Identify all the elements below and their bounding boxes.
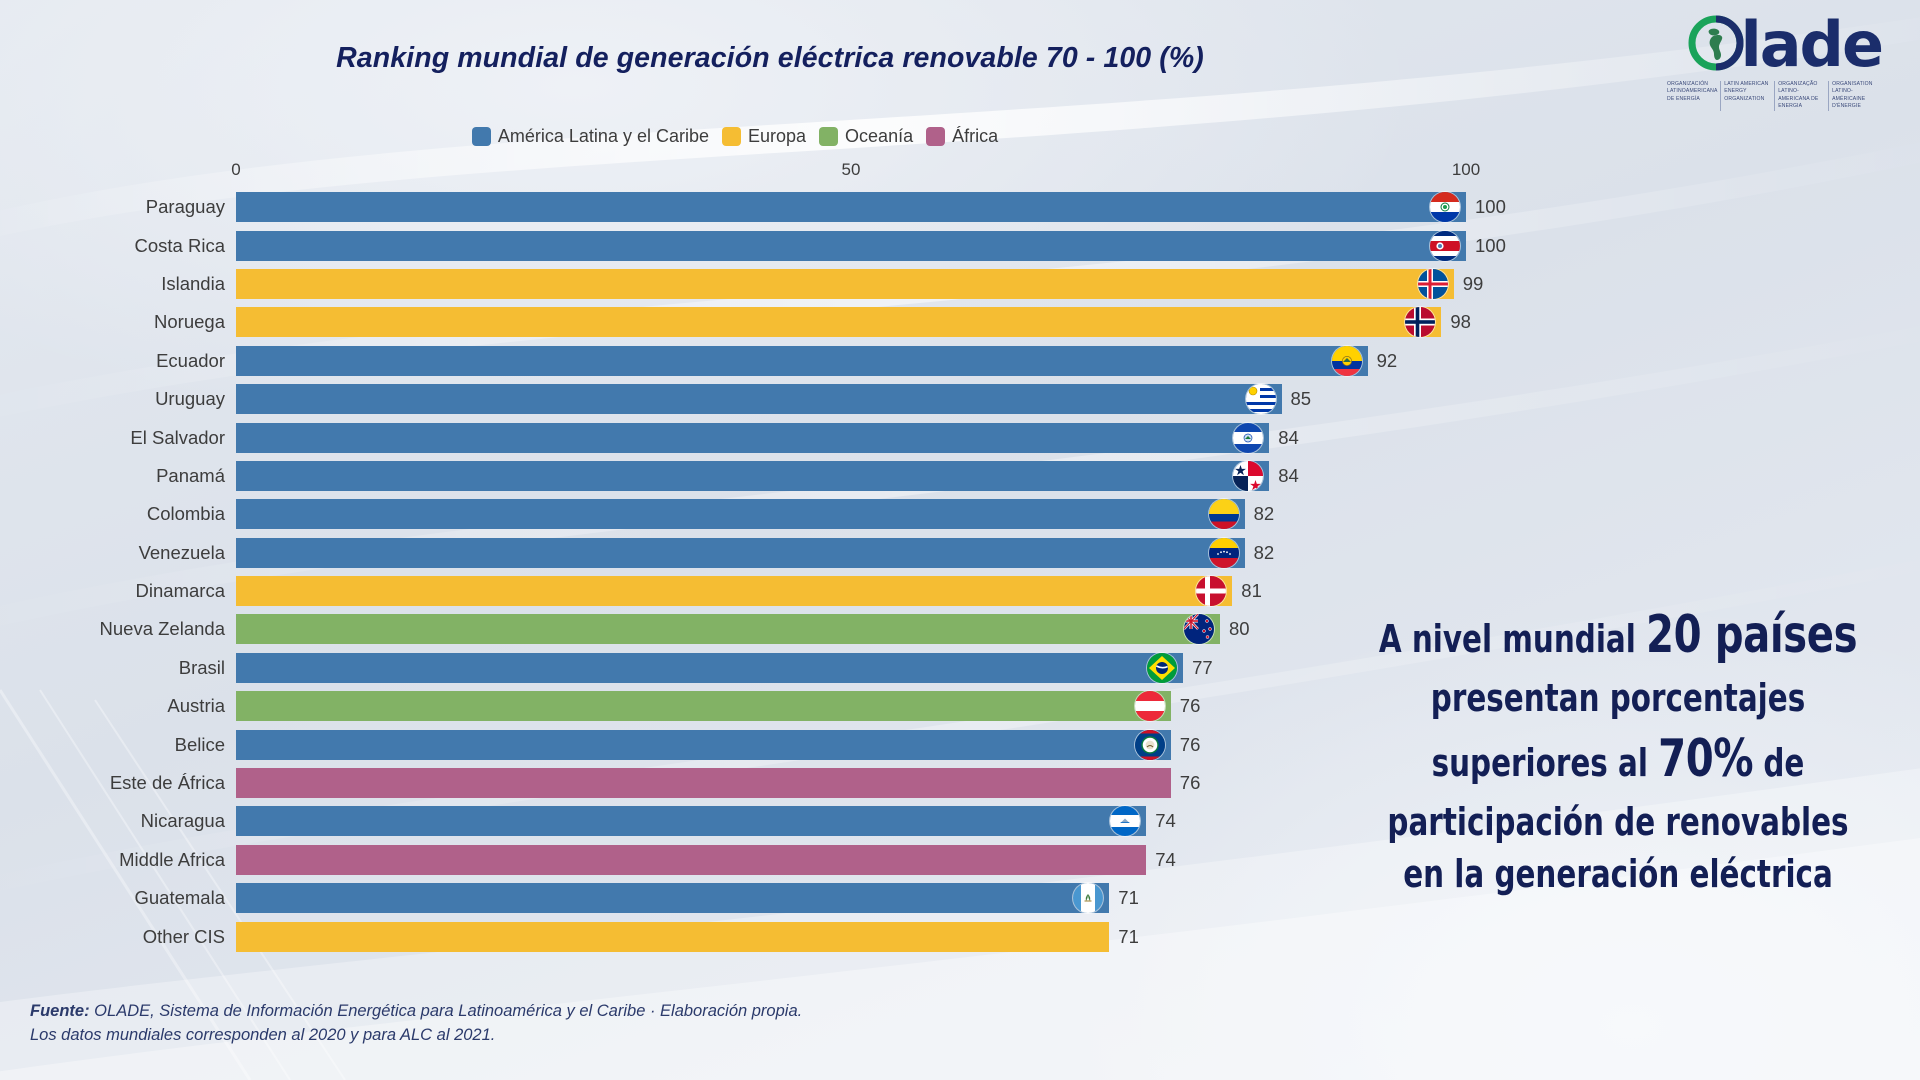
logo-wordmark: lade: [1740, 14, 1882, 76]
country-label: Austria: [0, 695, 236, 717]
bar-value: 77: [1192, 657, 1213, 679]
table-row[interactable]: Este de África76: [0, 764, 1540, 802]
bar-value: 84: [1278, 465, 1299, 487]
table-row[interactable]: Noruega98: [0, 303, 1540, 341]
bar-value: 100: [1475, 235, 1506, 257]
x-tick-50: 50: [842, 160, 861, 180]
table-row[interactable]: Panamá84: [0, 457, 1540, 495]
flag-colombia-icon: [1209, 499, 1239, 529]
legend-swatch-icon: [926, 127, 945, 146]
bar-América Latina y el Caribe[interactable]: [236, 423, 1269, 453]
flag-venezuela-icon: [1209, 538, 1239, 568]
bar-value: 82: [1254, 503, 1275, 525]
country-label: El Salvador: [0, 427, 236, 449]
bar-Europa[interactable]: [236, 269, 1454, 299]
table-row[interactable]: Other CIS71: [0, 917, 1540, 955]
table-row[interactable]: Islandia99: [0, 265, 1540, 303]
table-row[interactable]: Belice76: [0, 725, 1540, 763]
flag-iceland-icon: [1418, 269, 1448, 299]
callout-highlight-countries: 20 países: [1646, 605, 1857, 665]
olade-globe-icon: [1686, 13, 1746, 78]
logo-subtitle-es: Organización Latinoamericana de Energía: [1664, 81, 1720, 111]
legend-label: Europa: [748, 126, 806, 147]
table-row[interactable]: Nicaragua74: [0, 802, 1540, 840]
bar-value: 82: [1254, 542, 1275, 564]
bar-África[interactable]: [236, 845, 1146, 875]
bar-América Latina y el Caribe[interactable]: [236, 231, 1466, 261]
olade-logo: lade Organización Latinoamericana de Ene…: [1664, 14, 1882, 111]
bar-América Latina y el Caribe[interactable]: [236, 538, 1245, 568]
table-row[interactable]: Middle Africa74: [0, 841, 1540, 879]
callout-line-1: A nivel mundial 20 países: [1360, 600, 1876, 672]
flag-uruguay-icon: [1246, 384, 1276, 414]
bar-value: 85: [1291, 388, 1312, 410]
x-tick-100: 100: [1452, 160, 1480, 180]
chart-title: Ranking mundial de generación eléctrica …: [0, 42, 1540, 75]
bar-África[interactable]: [236, 768, 1171, 798]
bar-value: 76: [1180, 695, 1201, 717]
footnote-line-2: Los datos mundiales corresponden al 2020…: [30, 1024, 802, 1048]
legend-swatch-icon: [819, 127, 838, 146]
flag-ecuador-icon: [1332, 346, 1362, 376]
table-row[interactable]: Ecuador92: [0, 342, 1540, 380]
table-row[interactable]: Uruguay85: [0, 380, 1540, 418]
flag-new-zealand-icon: [1184, 614, 1214, 644]
country-label: Venezuela: [0, 542, 236, 564]
legend-item-0[interactable]: América Latina y el Caribe: [472, 126, 709, 147]
bar-América Latina y el Caribe[interactable]: [236, 730, 1171, 760]
bar-Europa[interactable]: [236, 576, 1232, 606]
country-label: Ecuador: [0, 350, 236, 372]
bar-value: 74: [1155, 849, 1176, 871]
country-label: Guatemala: [0, 887, 236, 909]
table-row[interactable]: Nueva Zelanda80: [0, 610, 1540, 648]
callout-line-4: participación de renovables: [1360, 796, 1876, 848]
bar-track: 82: [236, 538, 1466, 568]
legend-swatch-icon: [472, 127, 491, 146]
flag-brazil-icon: [1147, 653, 1177, 683]
flag-norway-icon: [1405, 307, 1435, 337]
bar-América Latina y el Caribe[interactable]: [236, 806, 1146, 836]
bar-value: 74: [1155, 810, 1176, 832]
country-label: Nueva Zelanda: [0, 618, 236, 640]
country-label: Costa Rica: [0, 235, 236, 257]
callout-line-5: en la generación eléctrica: [1360, 848, 1876, 900]
bar-Europa[interactable]: [236, 922, 1109, 952]
flag-belize-icon: [1135, 730, 1165, 760]
bar-América Latina y el Caribe[interactable]: [236, 192, 1466, 222]
country-label: Paraguay: [0, 196, 236, 218]
table-row[interactable]: Dinamarca81: [0, 572, 1540, 610]
flag-austria-icon: [1135, 691, 1165, 721]
bar-track: 100: [236, 231, 1466, 261]
country-label: Nicaragua: [0, 810, 236, 832]
table-row[interactable]: Guatemala71: [0, 879, 1540, 917]
legend-item-1[interactable]: Europa: [722, 126, 806, 147]
table-row[interactable]: Brasil77: [0, 649, 1540, 687]
table-row[interactable]: Austria76: [0, 687, 1540, 725]
bar-track: 76: [236, 730, 1466, 760]
bar-América Latina y el Caribe[interactable]: [236, 461, 1269, 491]
flag-panama-icon: [1233, 461, 1263, 491]
callout-highlight-percent: 70%: [1658, 729, 1753, 789]
source-footnote: Fuente: OLADE, Sistema de Información En…: [30, 1000, 802, 1048]
callout-line-2: presentan porcentajes: [1360, 672, 1876, 724]
legend-label: África: [952, 126, 998, 147]
bar-value: 71: [1118, 926, 1139, 948]
country-label: Colombia: [0, 503, 236, 525]
chart-legend: América Latina y el CaribeEuropaOceaníaÁ…: [0, 126, 1470, 147]
bar-track: 80: [236, 614, 1466, 644]
bar-chart: 050100 Paraguay100Costa Rica100Islandia9…: [0, 160, 1540, 956]
bar-track: 74: [236, 845, 1466, 875]
bar-track: 100: [236, 192, 1466, 222]
country-label: Dinamarca: [0, 580, 236, 602]
bar-track: 76: [236, 768, 1466, 798]
country-label: Islandia: [0, 273, 236, 295]
footnote-label: Fuente:: [30, 1002, 90, 1020]
bar-Oceanía[interactable]: [236, 691, 1171, 721]
logo-subtitle-en: Latin American Energy Organization: [1720, 81, 1774, 111]
bar-value: 81: [1241, 580, 1262, 602]
bar-track: 71: [236, 883, 1466, 913]
x-axis: 050100: [236, 160, 1466, 186]
bar-track: 84: [236, 461, 1466, 491]
country-label: Uruguay: [0, 388, 236, 410]
flag-costa-rica-icon: [1430, 231, 1460, 261]
bar-track: 71: [236, 922, 1466, 952]
bar-Oceanía[interactable]: [236, 614, 1220, 644]
bar-América Latina y el Caribe[interactable]: [236, 384, 1282, 414]
country-label: Panamá: [0, 465, 236, 487]
bar-track: 84: [236, 423, 1466, 453]
footnote-line-1: OLADE, Sistema de Información Energética…: [90, 1002, 803, 1020]
legend-label: América Latina y el Caribe: [498, 126, 709, 147]
flag-denmark-icon: [1196, 576, 1226, 606]
bar-value: 100: [1475, 196, 1506, 218]
legend-item-2[interactable]: Oceanía: [819, 126, 913, 147]
flag-nicaragua-icon: [1110, 806, 1140, 836]
bar-value: 76: [1180, 734, 1201, 756]
bar-track: 76: [236, 691, 1466, 721]
callout-line-3: superiores al 70% de: [1360, 724, 1876, 796]
table-row[interactable]: Paraguay100: [0, 188, 1540, 226]
bar-value: 80: [1229, 618, 1250, 640]
country-label: Este de África: [0, 772, 236, 794]
bar-América Latina y el Caribe[interactable]: [236, 883, 1109, 913]
logo-subtitle-fr: Organisation Latino-Américaine d'Énergie: [1828, 81, 1882, 111]
table-row[interactable]: Colombia82: [0, 495, 1540, 533]
bar-value: 92: [1377, 350, 1398, 372]
bar-track: 98: [236, 307, 1466, 337]
bar-América Latina y el Caribe[interactable]: [236, 653, 1183, 683]
bar-América Latina y el Caribe[interactable]: [236, 346, 1368, 376]
country-label: Noruega: [0, 311, 236, 333]
bar-value: 99: [1463, 273, 1484, 295]
flag-el-salvador-icon: [1233, 423, 1263, 453]
legend-swatch-icon: [722, 127, 741, 146]
table-row[interactable]: Venezuela82: [0, 534, 1540, 572]
bar-track: 92: [236, 346, 1466, 376]
bar-Europa[interactable]: [236, 307, 1441, 337]
bar-track: 99: [236, 269, 1466, 299]
bar-rows: Paraguay100Costa Rica100Islandia99Norueg…: [0, 188, 1540, 956]
bar-value: 84: [1278, 427, 1299, 449]
logo-subtitle-pt: Organização Latino-Americana de Energia: [1774, 81, 1828, 111]
bar-América Latina y el Caribe[interactable]: [236, 499, 1245, 529]
x-tick-0: 0: [231, 160, 240, 180]
bar-track: 77: [236, 653, 1466, 683]
callout-text: A nivel mundial 20 países presentan porc…: [1360, 600, 1876, 901]
flag-guatemala-icon: [1073, 883, 1103, 913]
bar-track: 82: [236, 499, 1466, 529]
legend-item-3[interactable]: África: [926, 126, 998, 147]
bar-value: 71: [1118, 887, 1139, 909]
legend-label: Oceanía: [845, 126, 913, 147]
table-row[interactable]: Costa Rica100: [0, 226, 1540, 264]
country-label: Other CIS: [0, 926, 236, 948]
country-label: Brasil: [0, 657, 236, 679]
bar-track: 81: [236, 576, 1466, 606]
country-label: Belice: [0, 734, 236, 756]
country-label: Middle Africa: [0, 849, 236, 871]
table-row[interactable]: El Salvador84: [0, 418, 1540, 456]
bar-value: 98: [1450, 311, 1471, 333]
bar-track: 74: [236, 806, 1466, 836]
bar-value: 76: [1180, 772, 1201, 794]
flag-paraguay-icon: [1430, 192, 1460, 222]
bar-track: 85: [236, 384, 1466, 414]
